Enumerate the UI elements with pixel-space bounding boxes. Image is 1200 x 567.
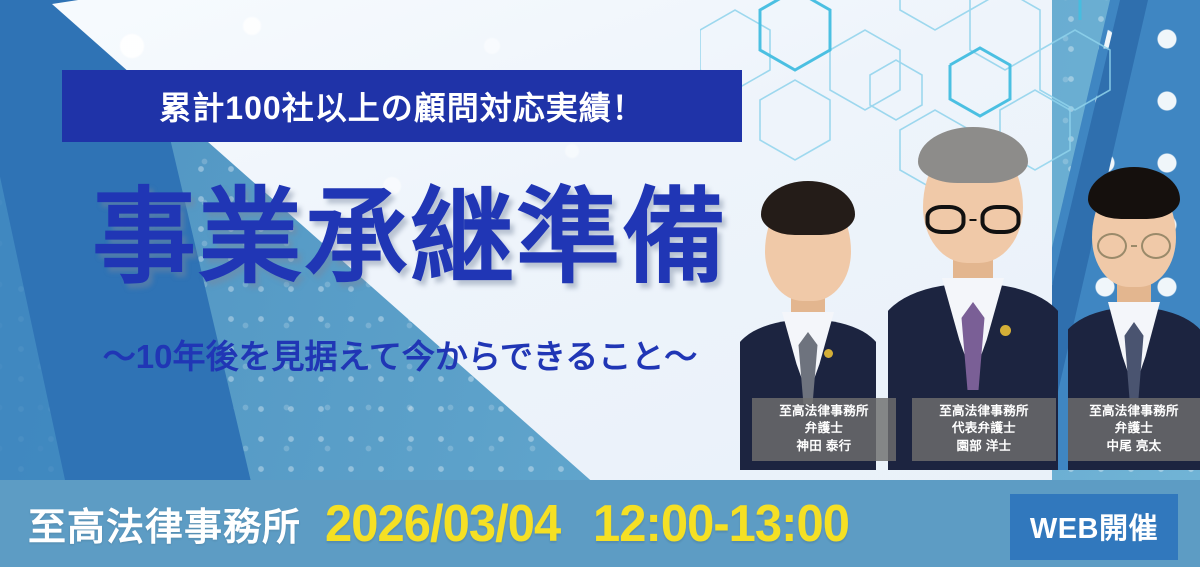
page-subtitle: 〜10年後を見据えて今からできること〜 (70, 330, 730, 378)
page-title: 事業承継準備 (80, 186, 740, 290)
speaker-name: 中尾 亮太 (1068, 438, 1200, 455)
speaker-firm: 至高法律事務所 (912, 403, 1056, 420)
speaker-firm: 至高法律事務所 (1068, 403, 1200, 420)
speaker-firm: 至高法律事務所 (752, 403, 896, 420)
glasses-icon (1097, 233, 1171, 259)
headline-banner: 累計100社以上の顧問対応実績！ (62, 70, 742, 142)
speaker-nameplate-3: 至高法律事務所 弁護士 中尾 亮太 (1068, 398, 1200, 461)
speaker-role: 弁護士 (1068, 420, 1200, 437)
footer-firm-name: 至高法律事務所 (28, 496, 301, 551)
glasses-icon (926, 205, 1021, 234)
speaker-name: 園部 洋士 (912, 438, 1056, 455)
speaker-nameplate-1: 至高法律事務所 弁護士 神田 泰行 (752, 398, 896, 461)
footer-time: 12:00-13:00 (593, 494, 849, 554)
webinar-banner: 累計100社以上の顧問対応実績！ 事業承継準備 〜10年後を見据えて今からできる… (0, 0, 1200, 567)
speaker-nameplate-2: 至高法律事務所 代表弁護士 園部 洋士 (912, 398, 1056, 461)
web-format-badge[interactable]: WEB開催 (1010, 494, 1178, 560)
speaker-name: 神田 泰行 (752, 438, 896, 455)
speaker-role: 弁護士 (752, 420, 896, 437)
footer-bar: 至高法律事務所 2026/03/04 12:00-13:00 WEB開催 (0, 480, 1200, 567)
footer-date: 2026/03/04 (325, 494, 560, 554)
headline-banner-text: 累計100社以上の顧問対応実績！ (159, 83, 644, 129)
speaker-role: 代表弁護士 (912, 420, 1056, 437)
